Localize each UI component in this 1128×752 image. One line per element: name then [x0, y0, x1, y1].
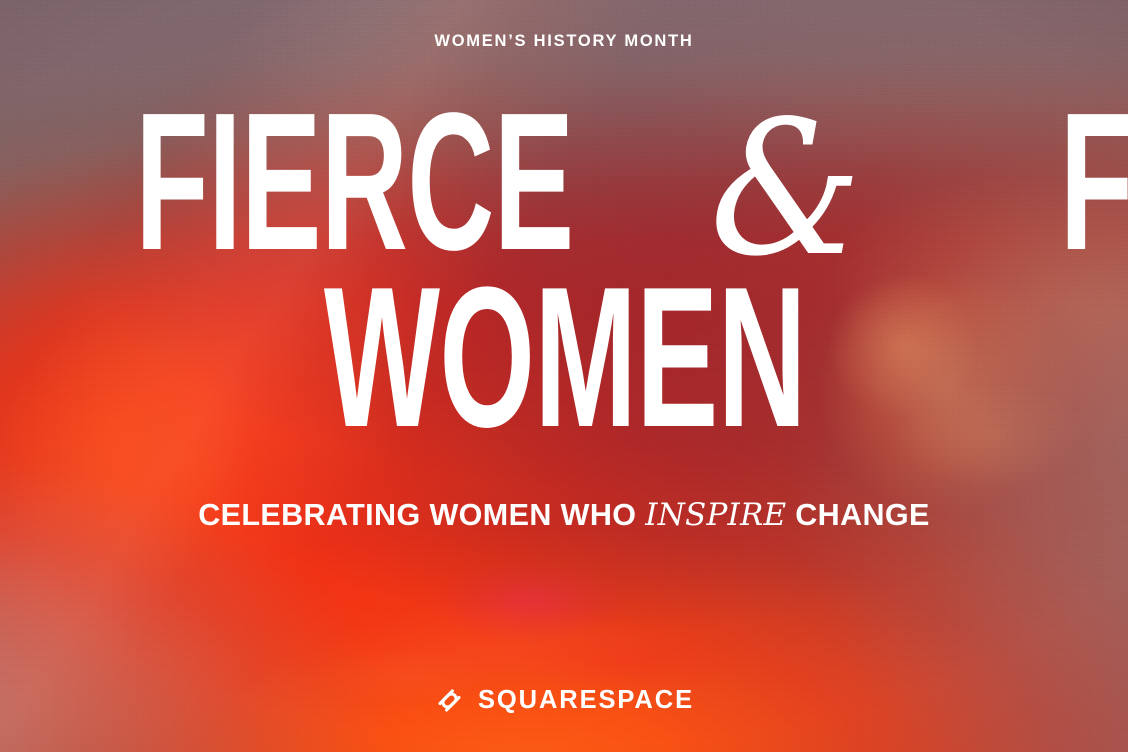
eyebrow-label: WOMEN’S HISTORY MONTH — [434, 33, 693, 50]
headline-word-women: WOMEN — [324, 278, 806, 438]
subtitle-text-before: CELEBRATING WOMEN WHO — [198, 498, 645, 532]
headline-word-fierce: FIERCE — [135, 104, 573, 261]
page-title: FIERCE&FEARLESS WOMEN — [0, 104, 1128, 439]
headline-ampersand: & — [709, 115, 861, 264]
subtitle-text-after: CHANGE — [786, 498, 929, 532]
poster-content: WOMEN’S HISTORY MONTH FIERCE&FEARLESS WO… — [0, 0, 1128, 752]
poster-canvas: WOMEN’S HISTORY MONTH FIERCE&FEARLESS WO… — [0, 0, 1128, 752]
subtitle-emphasis-inspire: INSPIRE — [645, 497, 786, 533]
headline-line-1: FIERCE&FEARLESS — [0, 104, 1128, 261]
subtitle: CELEBRATING WOMEN WHO INSPIRE CHANGE — [198, 500, 930, 531]
headline-line-2: WOMEN — [2, 278, 1128, 438]
headline-word-fearless: FEARLESS — [1060, 104, 1128, 261]
